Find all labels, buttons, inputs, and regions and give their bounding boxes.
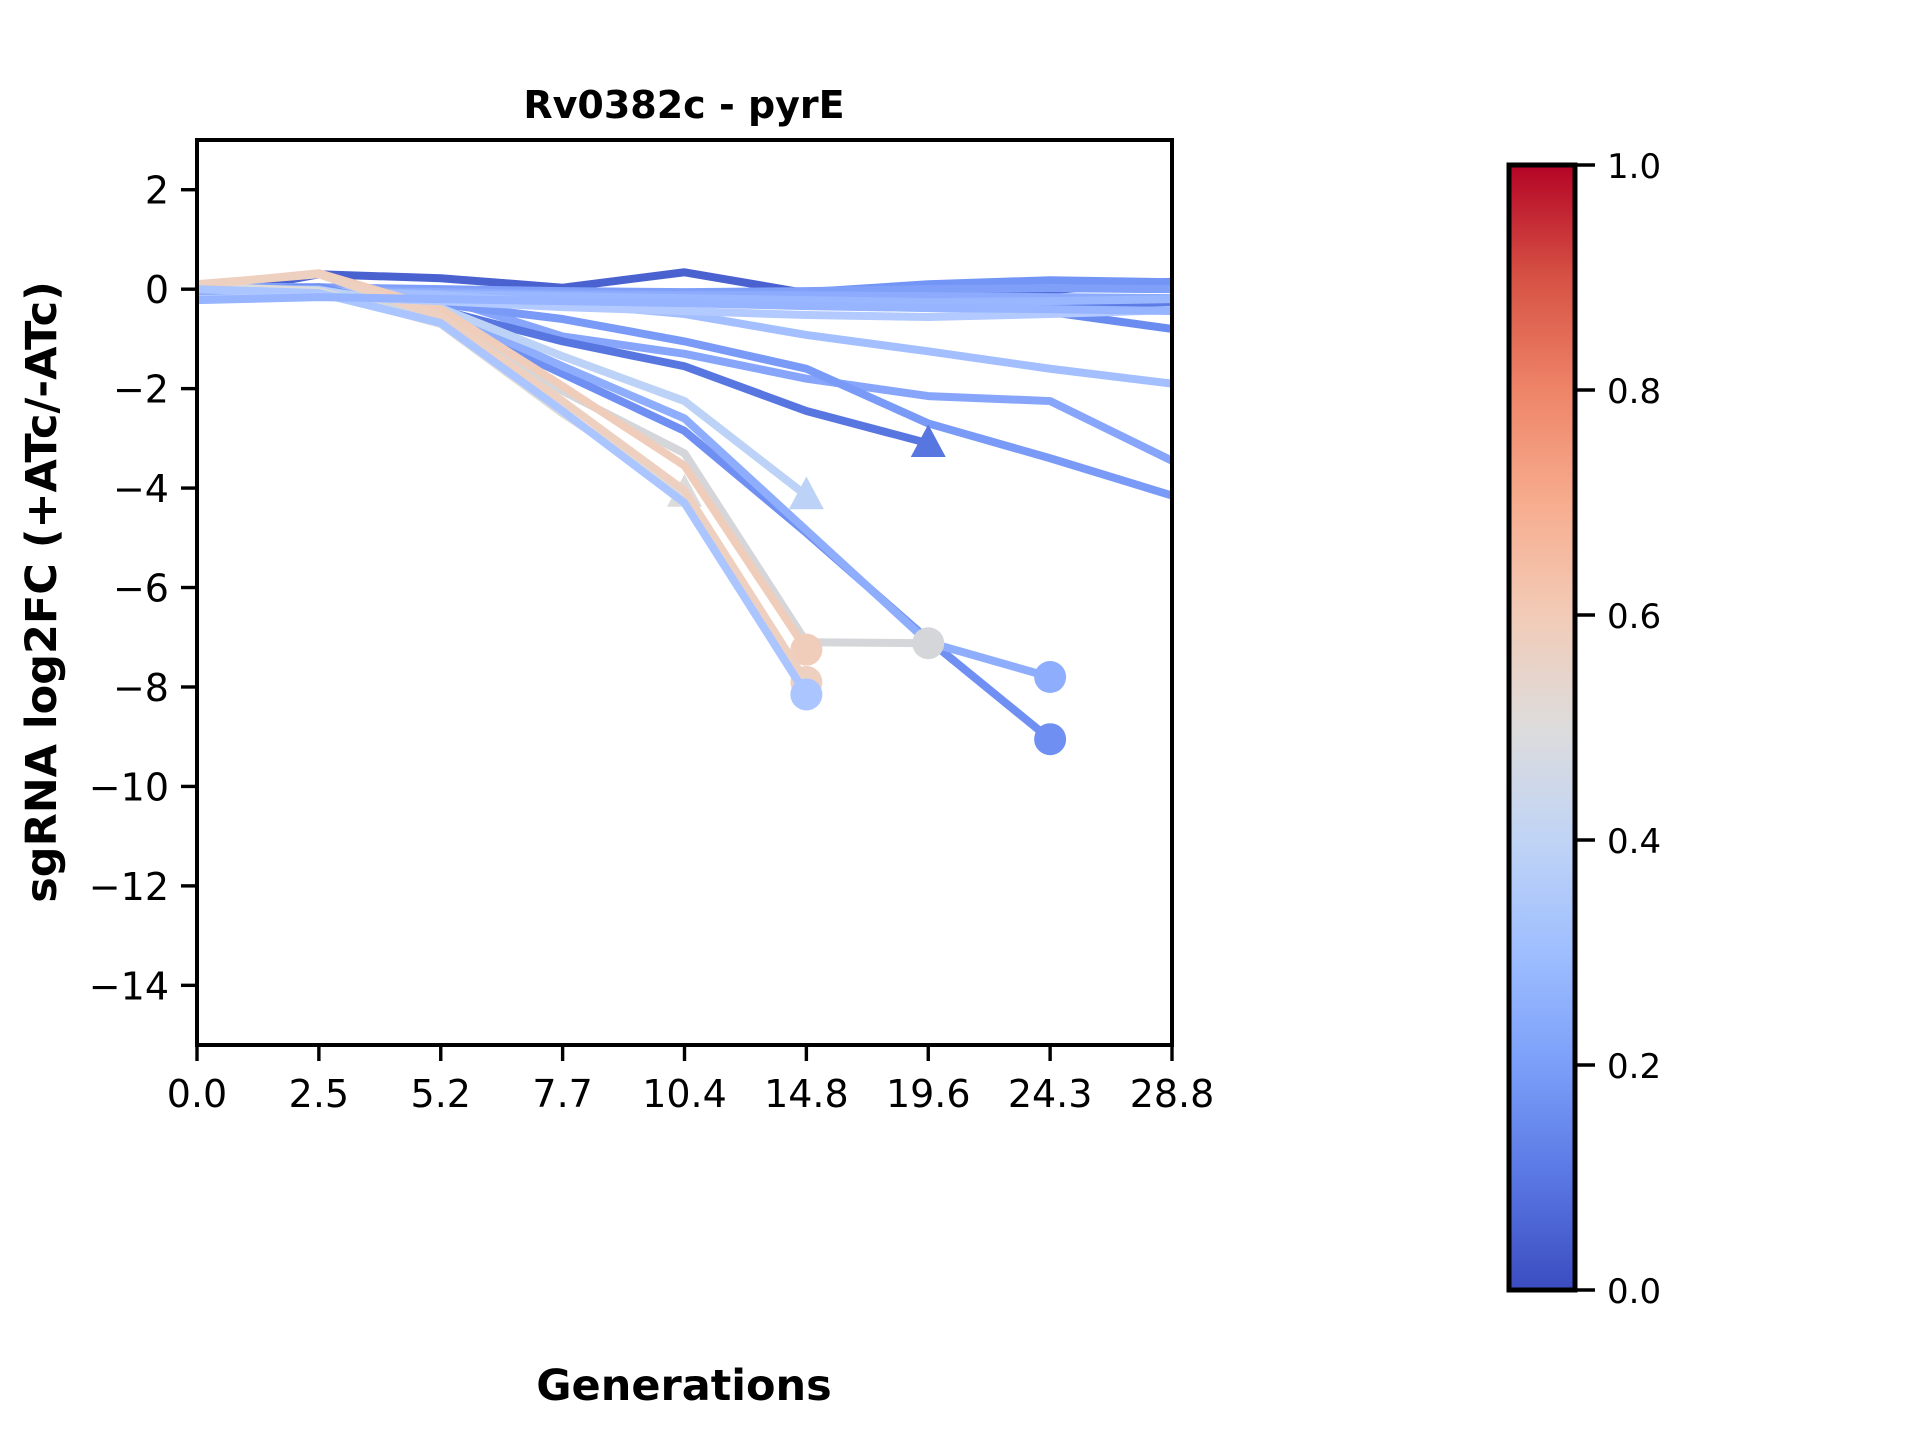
- y-tick-label: −2: [113, 368, 169, 412]
- y-tick-label: −4: [113, 467, 169, 511]
- colorbar-tick-label: 0.0: [1607, 1272, 1661, 1312]
- colorbar-tick-label: 0.2: [1607, 1047, 1661, 1087]
- y-tick-label: −8: [113, 666, 169, 710]
- y-tick-label: 0: [145, 268, 169, 312]
- colorbar-tick-label: 0.8: [1607, 372, 1661, 412]
- colorbar-ticks: 0.00.20.40.60.81.0: [1575, 147, 1661, 1312]
- colorbar-tick-label: 0.4: [1607, 822, 1661, 862]
- colorbar-tick-label: 1.0: [1607, 147, 1661, 187]
- terminal-circle-marker: [912, 627, 944, 659]
- x-tick-label: 19.6: [886, 1072, 971, 1116]
- plot-svg: 0.02.55.27.710.414.819.624.328.8 20−2−4−…: [0, 0, 1920, 1440]
- figure-canvas: 0.02.55.27.710.414.819.624.328.8 20−2−4−…: [0, 0, 1920, 1440]
- x-axis-ticks: 0.02.55.27.710.414.819.624.328.8: [167, 1045, 1215, 1116]
- y-axis-ticks: 20−2−4−6−8−10−12−14: [89, 169, 197, 1009]
- terminal-circle-marker: [1034, 723, 1066, 755]
- y-tick-label: −12: [89, 865, 169, 909]
- y-axis-label: sgRNA log2FC (+ATc/-ATc): [17, 281, 67, 903]
- y-tick-label: −6: [113, 567, 169, 611]
- x-tick-label: 28.8: [1130, 1072, 1215, 1116]
- y-tick-label: −10: [89, 765, 169, 809]
- x-tick-label: 24.3: [1008, 1072, 1093, 1116]
- colorbar-tick-label: 0.6: [1607, 597, 1661, 637]
- y-tick-label: 2: [145, 169, 169, 213]
- terminal-circle-marker: [1034, 661, 1066, 693]
- chart-title: Rv0382c - pyrE: [523, 83, 844, 127]
- x-tick-label: 5.2: [411, 1072, 471, 1116]
- x-tick-label: 14.8: [764, 1072, 849, 1116]
- colorbar-gradient: [1509, 165, 1575, 1290]
- matplotlib-figure: 0.02.55.27.710.414.819.624.328.8 20−2−4−…: [0, 0, 1920, 1440]
- x-axis-label: Generations: [536, 1361, 832, 1411]
- x-tick-label: 7.7: [532, 1072, 592, 1116]
- x-tick-label: 0.0: [167, 1072, 227, 1116]
- x-tick-label: 10.4: [642, 1072, 727, 1116]
- y-tick-label: −14: [89, 964, 169, 1008]
- x-tick-label: 2.5: [289, 1072, 349, 1116]
- terminal-circle-marker: [790, 678, 822, 710]
